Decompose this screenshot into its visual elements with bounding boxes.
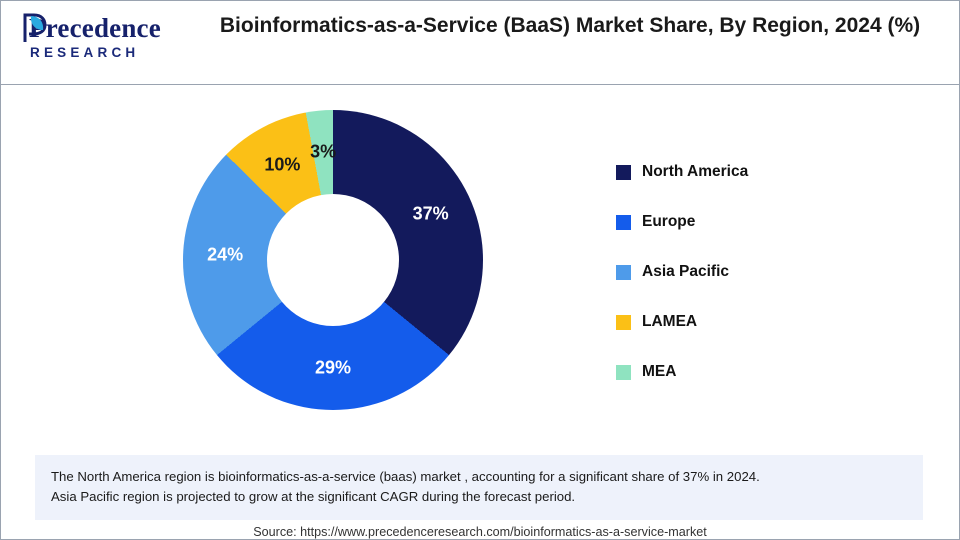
legend-swatch-icon bbox=[616, 165, 631, 180]
legend-swatch-icon bbox=[616, 365, 631, 380]
slice-value-label: 29% bbox=[315, 358, 351, 379]
legend-item[interactable]: North America bbox=[616, 147, 876, 197]
legend-swatch-icon bbox=[616, 215, 631, 230]
legend-item-label: Europe bbox=[642, 213, 695, 231]
donut-chart: 37%29%24%10%3% bbox=[183, 110, 483, 410]
slice-value-label: 10% bbox=[264, 154, 300, 175]
legend-item-label: Asia Pacific bbox=[642, 263, 729, 281]
legend-swatch-icon bbox=[616, 265, 631, 280]
chart-page: Precedence RESEARCH Bioinformatics-as-a-… bbox=[0, 0, 960, 540]
legend-item-label: North America bbox=[642, 163, 748, 181]
legend-item-label: MEA bbox=[642, 363, 676, 381]
insight-note-line-1: The North America region is bioinformati… bbox=[51, 467, 907, 487]
p-leaf-icon bbox=[21, 13, 47, 43]
logo-wordmark-secondary: RESEARCH bbox=[13, 45, 183, 60]
insight-note-line-2: Asia Pacific region is projected to grow… bbox=[51, 487, 907, 507]
legend-item[interactable]: Asia Pacific bbox=[616, 247, 876, 297]
legend-item[interactable]: MEA bbox=[616, 347, 876, 397]
insight-note: The North America region is bioinformati… bbox=[35, 455, 923, 520]
precedence-research-logo: Precedence RESEARCH bbox=[13, 13, 183, 71]
slice-value-label: 37% bbox=[413, 203, 449, 224]
legend-item[interactable]: Europe bbox=[616, 197, 876, 247]
slice-value-label: 3% bbox=[310, 142, 336, 163]
slice-value-label: 24% bbox=[207, 245, 243, 266]
legend-swatch-icon bbox=[616, 315, 631, 330]
legend-item[interactable]: LAMEA bbox=[616, 297, 876, 347]
source-caption: Source: https://www.precedenceresearch.c… bbox=[1, 525, 959, 539]
chart-body: 37%29%24%10%3% North AmericaEuropeAsia P… bbox=[1, 85, 959, 539]
header: Precedence RESEARCH Bioinformatics-as-a-… bbox=[1, 1, 959, 85]
donut-center-hole bbox=[267, 194, 399, 326]
legend: North AmericaEuropeAsia PacificLAMEAMEA bbox=[616, 147, 876, 397]
legend-item-label: LAMEA bbox=[642, 313, 697, 331]
page-title: Bioinformatics-as-a-Service (BaaS) Marke… bbox=[191, 11, 949, 41]
